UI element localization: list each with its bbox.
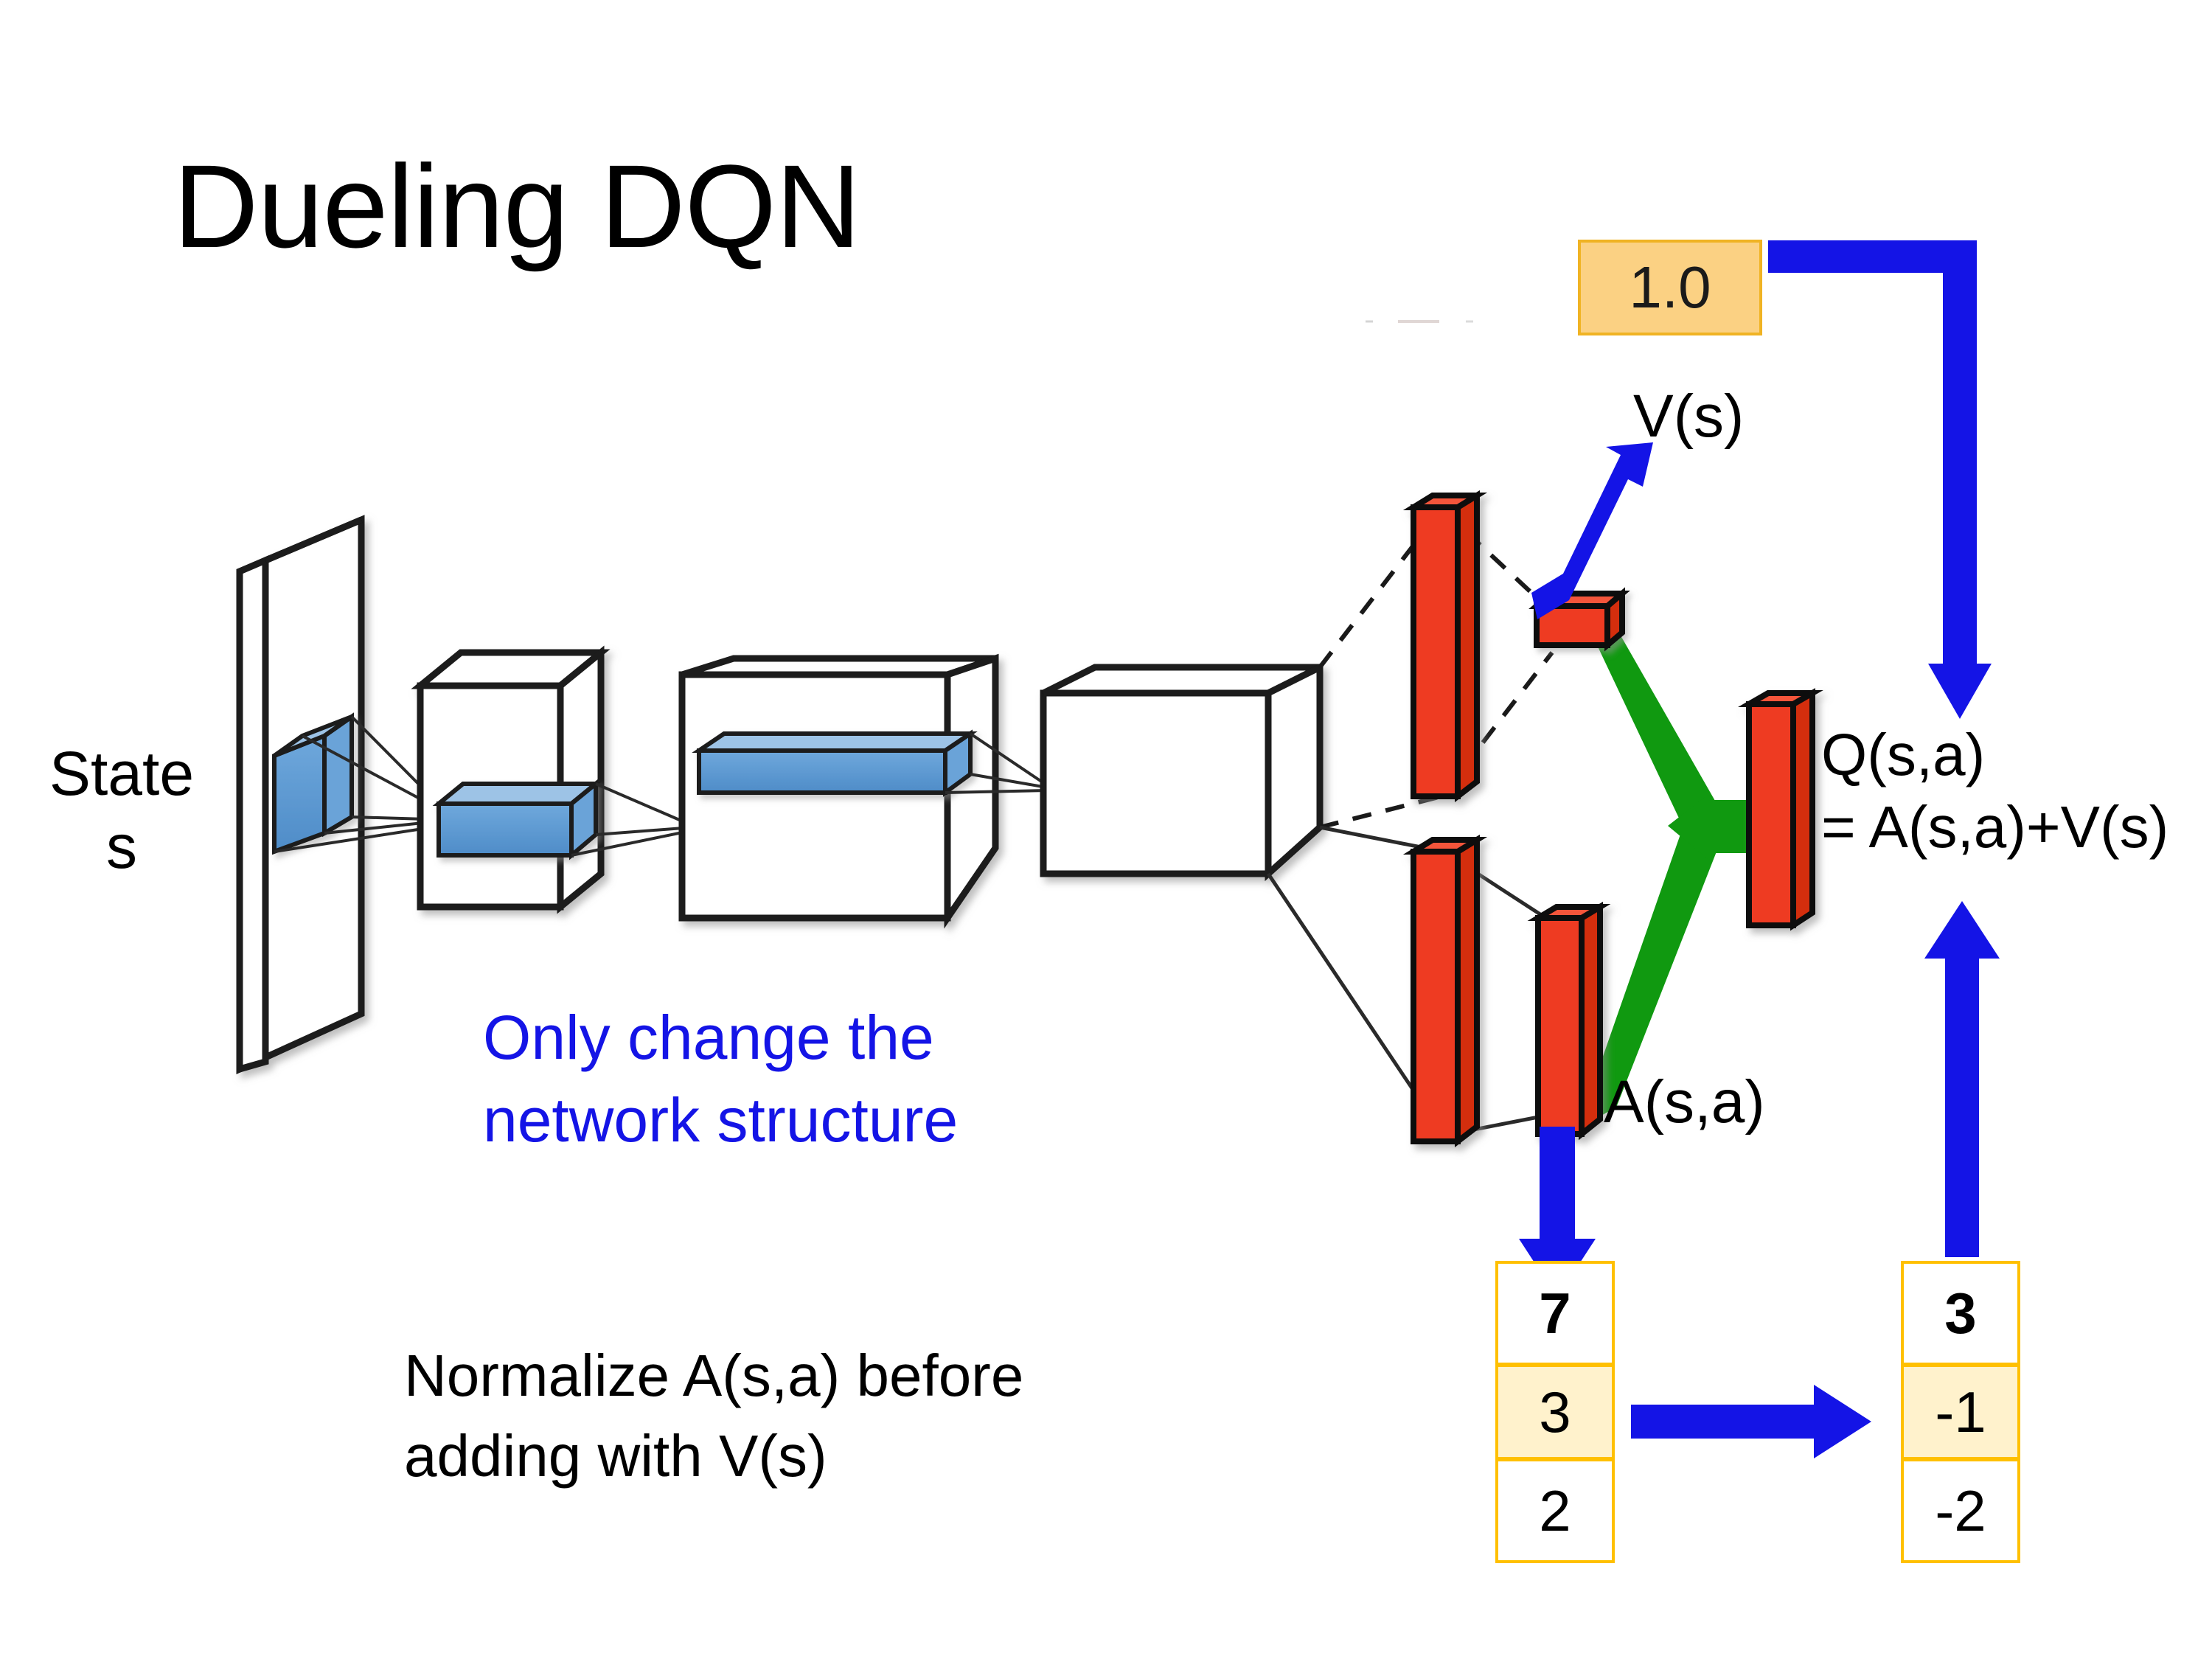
table-row: 2: [1498, 1461, 1612, 1560]
state-label-line2: s: [15, 810, 229, 883]
q-head-label: Q(s,a) = A(s,a)+V(s): [1821, 719, 2168, 863]
conv-filter-3: [699, 734, 970, 793]
conv-block-3: [1043, 667, 1320, 874]
value-head-label: V(s): [1633, 383, 1744, 450]
q-head-line1: Q(s,a): [1821, 719, 2168, 791]
table-row: 7: [1498, 1264, 1612, 1363]
table-row: 3: [1498, 1363, 1612, 1461]
normalize-right-arrow: [1631, 1385, 1871, 1458]
normalize-note: Normalize A(s,a) before adding with V(s): [404, 1336, 1023, 1497]
advantage-output-node: [1538, 907, 1600, 1134]
blue-note-line2: network structure: [483, 1079, 958, 1162]
normalize-note-line1: Normalize A(s,a) before: [404, 1336, 1023, 1416]
value-to-q-elbow-arrow: [1768, 240, 1992, 719]
blue-note: Only change the network structure: [483, 997, 958, 1161]
table-row: -2: [1904, 1461, 2017, 1560]
state-label-line1: State: [49, 739, 194, 808]
table-row: 3: [1904, 1264, 2017, 1363]
advantage-values-table: 7 3 2: [1495, 1261, 1615, 1563]
q-values-table: 3 -1 -2: [1901, 1261, 2020, 1563]
value-output-box: 1.0: [1578, 240, 1762, 335]
blue-note-line1: Only change the: [483, 997, 958, 1079]
fc-value-stream-bar: [1413, 495, 1477, 796]
advantage-head-label: A(s,a): [1604, 1069, 1765, 1135]
q-head-line2: = A(s,a)+V(s): [1821, 791, 2168, 863]
slide-canvas: Dueling DQN State s V(s) A(s,a) Q(s,a) =…: [0, 0, 2212, 1659]
page-title: Dueling DQN: [173, 147, 860, 265]
conv-filter-2: [439, 784, 596, 855]
state-label: State s: [15, 737, 229, 883]
fc-advantage-stream-bar: [1413, 840, 1477, 1141]
normalize-note-line2: adding with V(s): [404, 1416, 1023, 1497]
q-up-arrow: [1924, 901, 2000, 1257]
q-output-node: [1749, 693, 1812, 925]
table-row: -1: [1904, 1363, 2017, 1461]
conv-block-1: [420, 653, 601, 907]
